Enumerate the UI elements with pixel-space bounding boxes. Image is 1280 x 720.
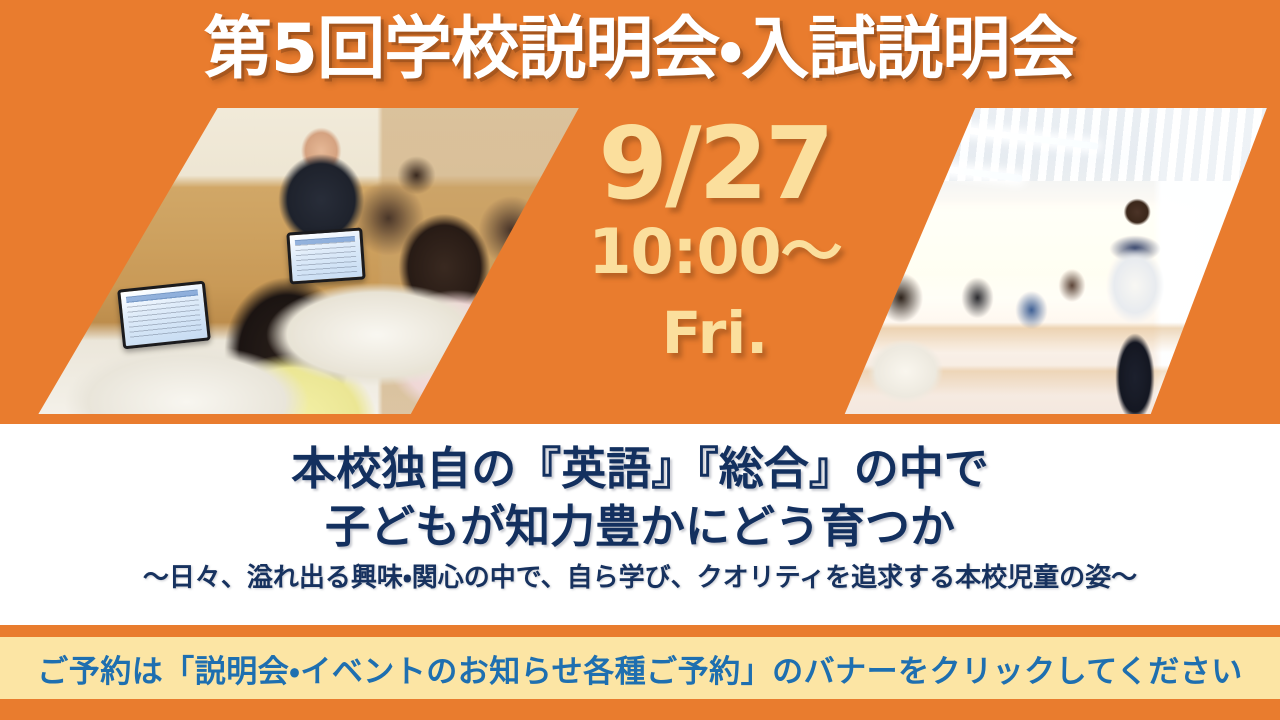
event-weekday: Fri. xyxy=(560,302,870,366)
english-classroom-photo-image xyxy=(820,108,1270,414)
tablet-lesson-photo-image xyxy=(30,108,590,414)
page-title-container: 第5回学校説明会・入試説明会 xyxy=(0,14,1280,85)
tablet-lesson-photo xyxy=(30,108,590,414)
message-line-2: 子どもが知力豊かにどう育つか xyxy=(0,498,1280,556)
page-title: 第5回学校説明会・入試説明会 xyxy=(204,14,1076,85)
message-line-1: 本校独自の『英語』『総合』の中で xyxy=(0,440,1280,498)
hero-section: 9/27 10:00〜 Fri. 第5回学校説明会・入試説明会 xyxy=(0,0,1280,424)
event-poster: 9/27 10:00〜 Fri. 第5回学校説明会・入試説明会 本校独自の『英語… xyxy=(0,0,1280,720)
event-date: 9/27 xyxy=(560,112,870,216)
tablet-device-icon xyxy=(286,228,365,285)
reservation-banner[interactable]: ご予約は「説明会・イベントのお知らせ各種ご予約」のバナーをクリックしてください xyxy=(0,637,1280,699)
event-date-block: 9/27 10:00〜 Fri. xyxy=(560,112,870,366)
ceiling-texture xyxy=(820,108,1270,181)
reservation-instruction-text: ご予約は「説明会・イベントのお知らせ各種ご予約」のバナーをクリックしてください xyxy=(37,646,1243,691)
tablet-device-icon xyxy=(117,281,211,350)
message-section: 本校独自の『英語』『総合』の中で 子どもが知力豊かにどう育つか 〜日々、溢れ出る… xyxy=(0,424,1280,625)
cta-section: ご予約は「説明会・イベントのお知らせ各種ご予約」のバナーをクリックしてください xyxy=(0,625,1280,720)
event-time: 10:00〜 xyxy=(560,218,870,286)
english-classroom-photo xyxy=(820,108,1270,414)
message-subtitle: 〜日々、溢れ出る興味・関心の中で、自ら学び、クオリティを追求する本校児童の姿〜 xyxy=(0,563,1280,594)
